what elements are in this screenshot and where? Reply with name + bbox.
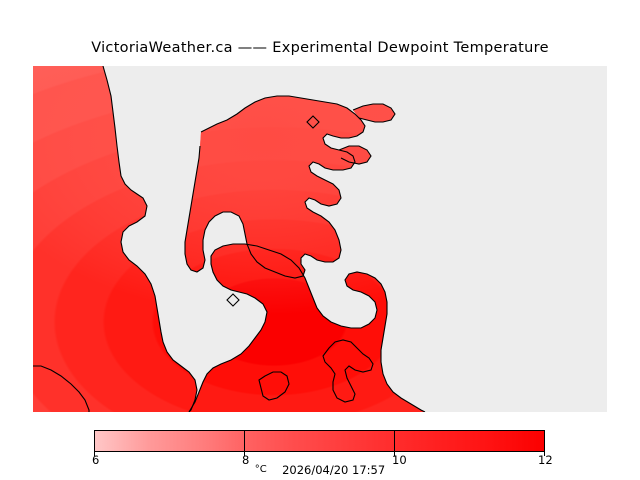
colorbar-caption: °C 2026/04/20 17:57	[0, 463, 640, 477]
dewpoint-contour-map	[33, 66, 607, 412]
units-label: °C	[255, 464, 267, 475]
page-title: VictoriaWeather.ca —— Experimental Dewpo…	[0, 40, 640, 56]
weather-map-page: VictoriaWeather.ca —— Experimental Dewpo…	[0, 0, 640, 480]
colorbar[interactable]	[94, 430, 545, 452]
colorbar-tick-10	[394, 430, 395, 452]
map-canvas	[33, 66, 607, 412]
map-plot-area[interactable]	[33, 66, 607, 412]
timestamp-label: 2026/04/20 17:57	[282, 463, 385, 477]
colorbar-gradient	[94, 430, 545, 452]
colorbar-tick-8	[244, 430, 245, 452]
